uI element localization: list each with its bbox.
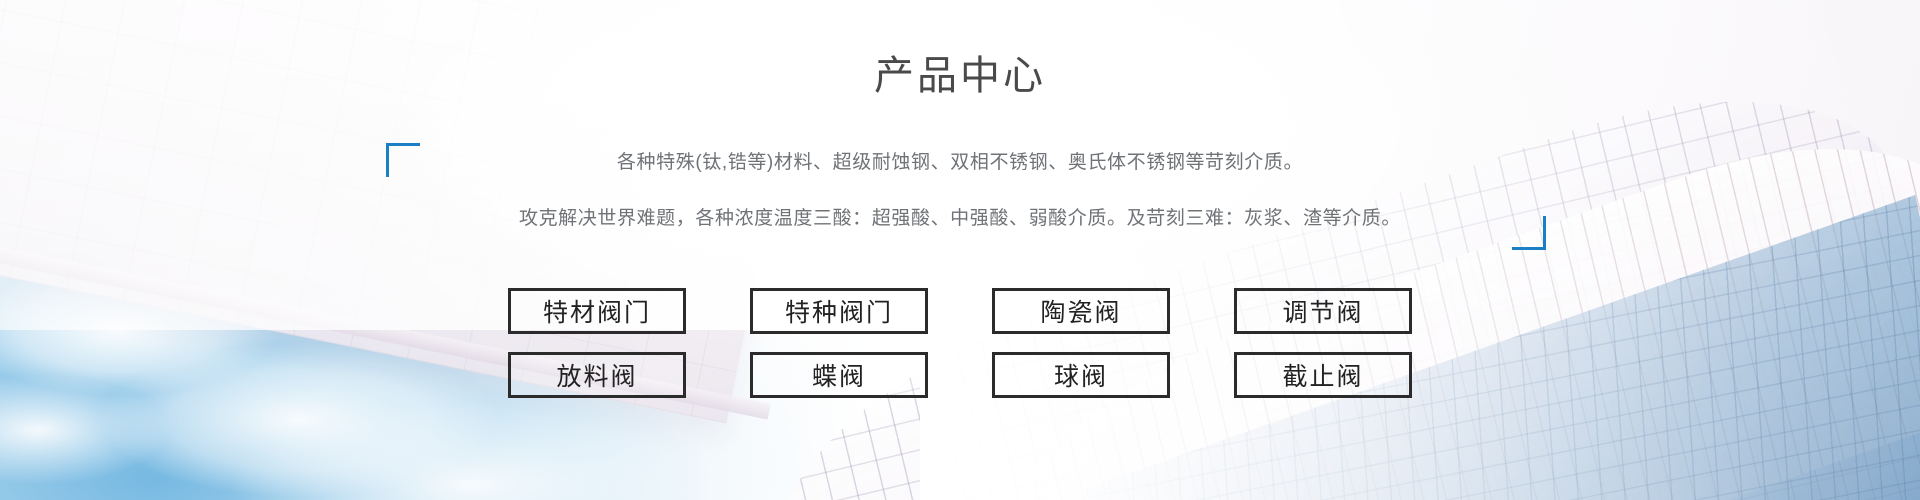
corner-bracket-top-left-icon	[386, 143, 420, 177]
category-button-discharge-valve[interactable]: 放料阀	[508, 352, 686, 398]
bracket-horizontal-bar	[1512, 247, 1546, 250]
corner-bracket-bottom-right-icon	[1512, 216, 1546, 250]
category-button-ceramic-valve[interactable]: 陶瓷阀	[992, 288, 1170, 334]
page-title: 产品中心	[0, 52, 1920, 100]
category-row-2: 放料阀 蝶阀 球阀 截止阀	[0, 352, 1920, 398]
category-button-special-valve[interactable]: 特种阀门	[750, 288, 928, 334]
description-line-2: 攻克解决世界难题，各种浓度温度三酸：超强酸、中强酸、弱酸介质。及苛刻三难：灰浆、…	[0, 204, 1920, 233]
category-button-globe-valve[interactable]: 截止阀	[1234, 352, 1412, 398]
description-line-1: 各种特殊(钛,锆等)材料、超级耐蚀钢、双相不锈钢、奥氏体不锈钢等苛刻介质。	[0, 148, 1920, 177]
bracket-vertical-bar	[1543, 216, 1546, 250]
category-button-techai-valve[interactable]: 特材阀门	[508, 288, 686, 334]
category-button-grid: 特材阀门 特种阀门 陶瓷阀 调节阀 放料阀 蝶阀 球阀 截止阀	[0, 288, 1920, 398]
description-block: 各种特殊(钛,锆等)材料、超级耐蚀钢、双相不锈钢、奥氏体不锈钢等苛刻介质。 攻克…	[0, 148, 1920, 234]
bracket-horizontal-bar	[386, 143, 420, 146]
category-row-1: 特材阀门 特种阀门 陶瓷阀 调节阀	[0, 288, 1920, 334]
category-button-ball-valve[interactable]: 球阀	[992, 352, 1170, 398]
bracket-vertical-bar	[386, 143, 389, 177]
product-center-banner: 产品中心 各种特殊(钛,锆等)材料、超级耐蚀钢、双相不锈钢、奥氏体不锈钢等苛刻介…	[0, 0, 1920, 500]
banner-content: 产品中心 各种特殊(钛,锆等)材料、超级耐蚀钢、双相不锈钢、奥氏体不锈钢等苛刻介…	[0, 0, 1920, 500]
category-button-butterfly-valve[interactable]: 蝶阀	[750, 352, 928, 398]
category-button-control-valve[interactable]: 调节阀	[1234, 288, 1412, 334]
